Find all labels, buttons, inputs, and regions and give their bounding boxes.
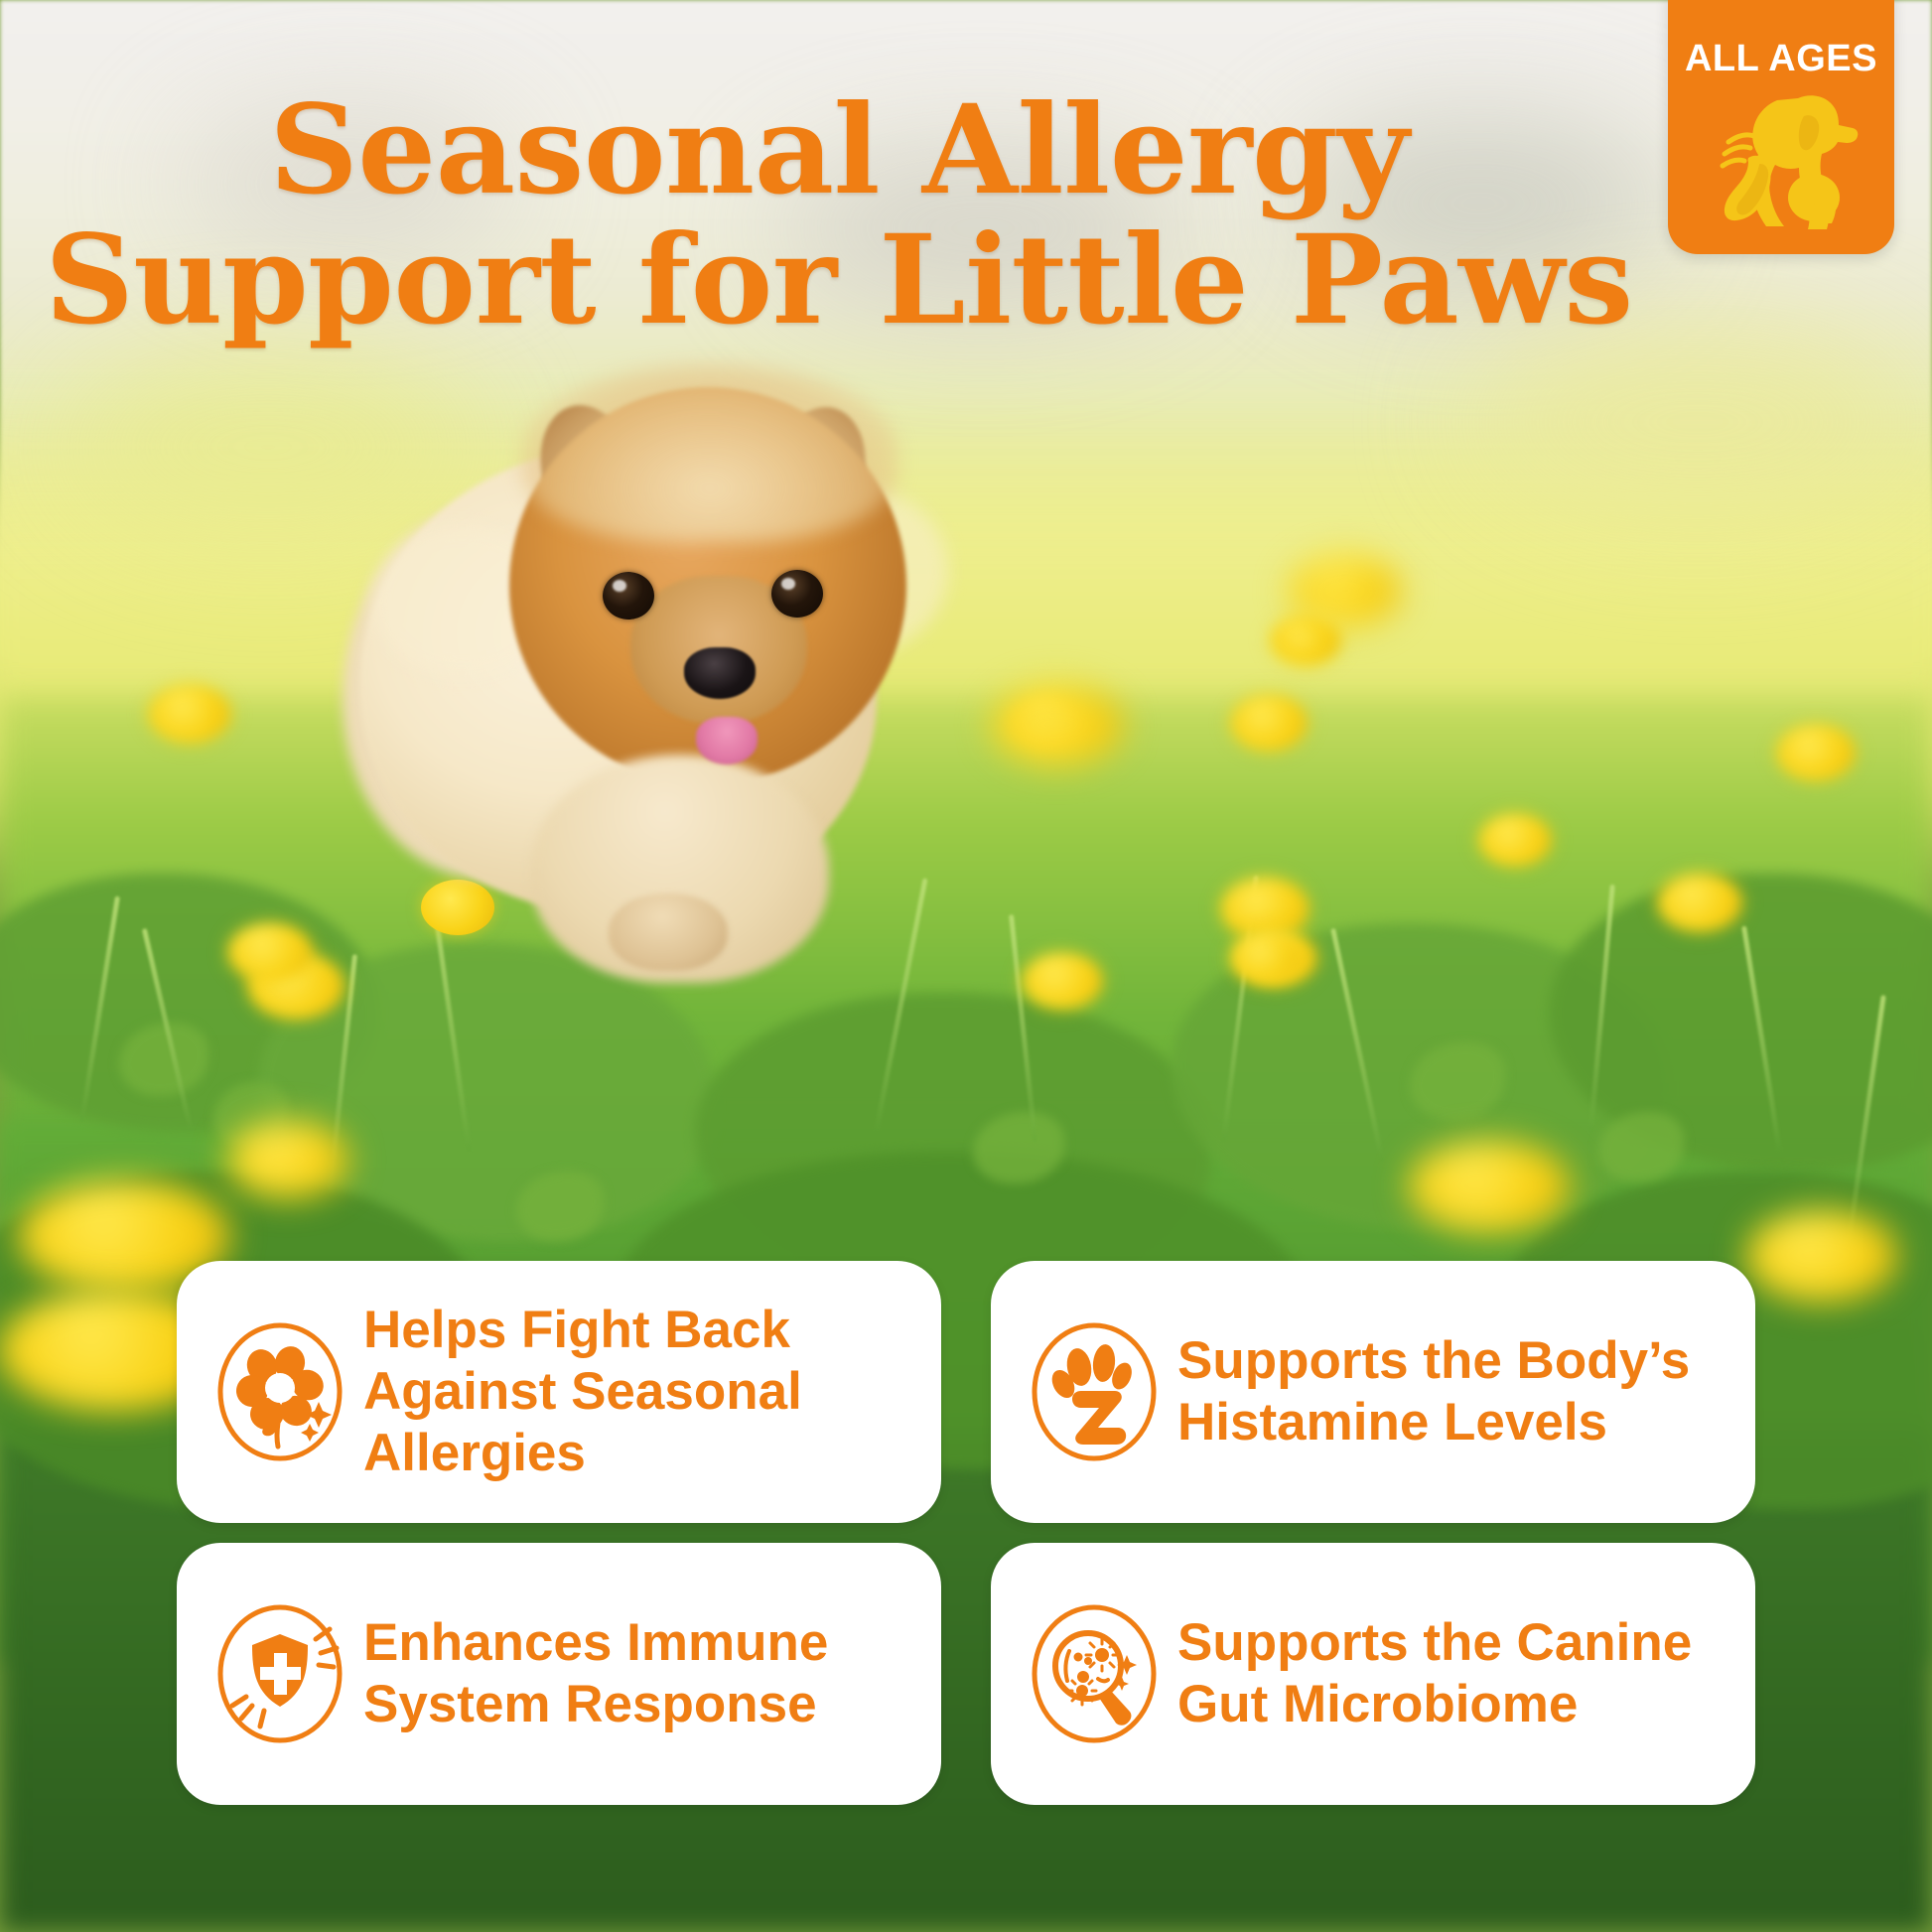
dog-head-fluff <box>521 363 898 542</box>
dog-nose <box>684 647 756 699</box>
shield-plus-icon <box>210 1599 349 1748</box>
feature-card-allergies[interactable]: Helps Fight Back Against Seasonal Allerg… <box>177 1261 941 1523</box>
all-ages-badge-label: ALL AGES <box>1685 38 1877 80</box>
title-line-1: Seasonal Allergy <box>0 85 1678 215</box>
dog-paw <box>609 894 728 971</box>
feature-card-histamine[interactable]: Supports the Body’s Histamine Levels <box>991 1261 1755 1523</box>
dandelion-flower <box>1747 1211 1896 1301</box>
dandelion-flower <box>1658 874 1741 931</box>
dandelion-flower <box>1231 933 1301 983</box>
feature-card-microbiome[interactable]: Supports the Canine Gut Microbiome <box>991 1543 1755 1805</box>
feature-card-immune[interactable]: Enhances Immune System Response <box>177 1543 941 1805</box>
feature-card-label: Enhances Immune System Response <box>363 1612 911 1735</box>
bokeh-blob <box>1469 328 1926 516</box>
dandelion-flower <box>1023 953 1102 1009</box>
title-line-2: Support for Little Paws <box>0 215 1678 345</box>
dandelion-flower <box>1777 725 1855 780</box>
dandelion-flower <box>1221 878 1309 939</box>
dog-eye-left <box>603 572 654 620</box>
dandelion-flower <box>993 685 1122 764</box>
dandelion-flower <box>1410 1142 1569 1231</box>
dandelion-flower <box>228 1122 347 1197</box>
page-title: Seasonal Allergy Support for Little Paws <box>0 85 1678 346</box>
paw-print-icon <box>1025 1317 1164 1466</box>
magnifier-microbes-icon <box>1025 1599 1164 1748</box>
dandelion-flower <box>228 923 312 981</box>
flower-sparkle-icon <box>210 1317 349 1466</box>
dog-eye-right <box>771 570 823 618</box>
dandelion-flower <box>149 685 230 743</box>
feature-card-label: Supports the Canine Gut Microbiome <box>1177 1612 1725 1735</box>
dog-tongue <box>696 717 758 764</box>
feature-card-label: Helps Fight Back Against Seasonal Allerg… <box>363 1300 911 1484</box>
feature-card-label: Supports the Body’s Histamine Levels <box>1177 1330 1725 1453</box>
dandelion-flower <box>1231 695 1307 751</box>
dandelion-flower <box>1479 814 1551 866</box>
pomeranian-dog-image <box>343 328 978 963</box>
feature-cards-grid: Helps Fight Back Against Seasonal Allerg… <box>177 1261 1755 1805</box>
dandelion-flower <box>1291 556 1400 625</box>
sitting-dog-silhouette-icon <box>1687 86 1875 235</box>
all-ages-badge: ALL AGES <box>1668 0 1894 254</box>
